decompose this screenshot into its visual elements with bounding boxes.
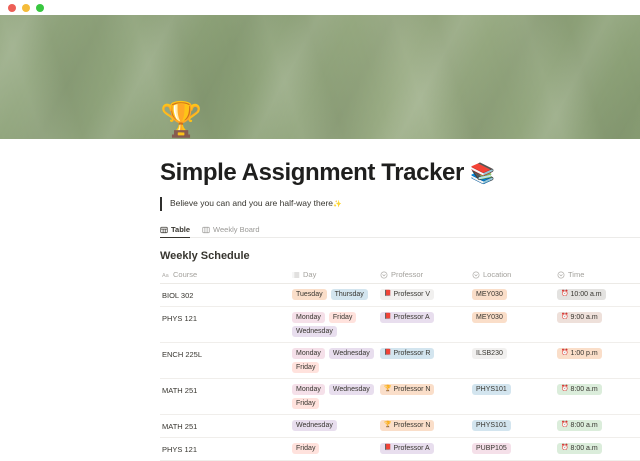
location-tag[interactable]: ILSB230 <box>472 348 507 359</box>
window-minimize-button[interactable] <box>22 4 30 12</box>
location-tag-label: PUBP105 <box>476 444 507 453</box>
day-tag[interactable]: Wednesday <box>329 348 374 359</box>
tab-weekly-board[interactable]: Weekly Board <box>202 225 260 237</box>
cell-day[interactable]: TuesdayThursday <box>290 284 378 307</box>
day-tag-list: MondayFridayWednesday <box>292 312 374 337</box>
cell-day[interactable]: MondayFridayWednesday <box>290 307 378 343</box>
column-header-time[interactable]: Time <box>555 268 640 284</box>
time-tag-label: 8:00 a.m <box>570 421 597 430</box>
multi-select-icon <box>292 271 300 279</box>
professor-tag-label: Professor A <box>393 313 429 322</box>
cell-professor[interactable]: 🏆Professor N <box>378 415 470 438</box>
cell-time[interactable]: ⏰8:00 a.m <box>555 438 640 461</box>
alarm-clock-icon: ⏰ <box>561 349 568 358</box>
professor-tag[interactable]: 📕Professor A <box>380 443 434 454</box>
page-icon-emoji[interactable]: 🏆 <box>160 103 202 137</box>
select-icon <box>557 271 565 279</box>
day-tag[interactable]: Wednesday <box>329 384 374 395</box>
cell-time[interactable]: ⏰8:00 a.m <box>555 415 640 438</box>
view-tabs: Table Weekly Board <box>160 221 640 238</box>
cell-course[interactable]: MATH 251 <box>160 379 290 415</box>
cell-location[interactable]: PHYS101 <box>470 379 555 415</box>
alarm-clock-icon: ⏰ <box>561 313 568 322</box>
professor-tag-list: 📕Professor R <box>380 348 466 359</box>
cell-time[interactable]: ⏰8:00 a.m <box>555 379 640 415</box>
location-tag-list: PHYS101 <box>472 384 551 395</box>
column-header-course-label: Course <box>173 270 197 279</box>
location-tag-list: PUBP105 <box>472 443 551 454</box>
cell-professor[interactable]: 📕Professor V <box>378 284 470 307</box>
cell-day[interactable]: Friday <box>290 438 378 461</box>
book-icon: 🏆 <box>384 421 391 430</box>
location-tag-label: ILSB230 <box>476 349 503 358</box>
book-icon: 📕 <box>384 444 391 453</box>
location-tag[interactable]: MEY030 <box>472 312 507 323</box>
location-tag[interactable]: PUBP105 <box>472 443 511 454</box>
professor-tag[interactable]: 🏆Professor N <box>380 420 434 431</box>
professor-tag-label: Professor N <box>393 421 430 430</box>
day-tag-list: Wednesday <box>292 420 374 431</box>
course-name: PHYS 121 <box>162 312 286 324</box>
cell-course[interactable]: ENCH 225L <box>160 343 290 379</box>
cell-location[interactable]: MEY030 <box>470 284 555 307</box>
table-row[interactable]: MATH 251MondayWednesdayFriday🏆Professor … <box>160 379 640 415</box>
location-tag[interactable]: MEY030 <box>472 289 507 300</box>
location-tag-list: MEY030 <box>472 312 551 323</box>
professor-tag-list: 📕Professor A <box>380 312 466 323</box>
select-icon <box>472 271 480 279</box>
time-tag[interactable]: ⏰8:00 a.m <box>557 420 602 431</box>
sparkles-icon: ✨ <box>333 201 342 208</box>
cell-professor[interactable]: 🏆Professor N <box>378 379 470 415</box>
title-text-icon: Aa <box>162 271 170 279</box>
column-header-day-label: Day <box>303 270 316 279</box>
day-tag[interactable]: Friday <box>329 312 356 323</box>
course-name: PHYS 121 <box>162 443 286 455</box>
column-header-professor-label: Professor <box>391 270 423 279</box>
day-tag-list: TuesdayThursday <box>292 289 374 300</box>
tab-weekly-board-label: Weekly Board <box>213 225 260 234</box>
cell-professor[interactable]: 📕Professor R <box>378 343 470 379</box>
page-title-text: Simple Assignment Tracker <box>160 159 464 186</box>
professor-tag-list: 📕Professor A <box>380 443 466 454</box>
books-icon: 📚 <box>470 163 495 185</box>
window-maximize-button[interactable] <box>36 4 44 12</box>
cell-time[interactable]: ⏰9:00 a.m <box>555 307 640 343</box>
professor-tag[interactable]: 📕Professor V <box>380 289 434 300</box>
cell-time[interactable]: ⏰1:00 p.m <box>555 343 640 379</box>
course-name: ENCH 225L <box>162 348 286 360</box>
cell-course[interactable]: MATH 251 <box>160 415 290 438</box>
location-tag[interactable]: PHYS101 <box>472 384 511 395</box>
location-tag-label: PHYS101 <box>476 421 507 430</box>
cell-professor[interactable]: 📕Professor A <box>378 438 470 461</box>
professor-tag-list: 📕Professor V <box>380 289 466 300</box>
time-tag-list: ⏰10:00 a.m <box>557 289 640 300</box>
professor-tag[interactable]: 🏆Professor N <box>380 384 434 395</box>
book-icon: 📕 <box>384 349 391 358</box>
time-tag[interactable]: ⏰8:00 a.m <box>557 384 602 395</box>
course-name: BIOL 302 <box>162 289 286 301</box>
table-row[interactable]: ENCH 225LMondayWednesdayFriday📕Professor… <box>160 343 640 379</box>
day-tag-list: MondayWednesdayFriday <box>292 348 374 373</box>
day-tag[interactable]: Wednesday <box>292 420 337 431</box>
cell-course[interactable]: PHYS 121 <box>160 307 290 343</box>
location-tag[interactable]: PHYS101 <box>472 420 511 431</box>
cell-day[interactable]: MondayWednesdayFriday <box>290 379 378 415</box>
location-tag-list: PHYS101 <box>472 420 551 431</box>
table-header: Aa Course <box>160 268 640 284</box>
cell-day[interactable]: MondayWednesdayFriday <box>290 343 378 379</box>
svg-text:Aa: Aa <box>162 273 170 279</box>
time-tag-list: ⏰8:00 a.m <box>557 443 640 454</box>
window-close-button[interactable] <box>8 4 16 12</box>
time-tag-list: ⏰8:00 a.m <box>557 384 640 395</box>
course-name: MATH 251 <box>162 384 286 396</box>
location-tag-list: MEY030 <box>472 289 551 300</box>
page-cover-image <box>0 15 640 139</box>
table-row[interactable]: PHYS 121MondayFridayWednesday📕Professor … <box>160 307 640 343</box>
cell-course[interactable]: BIOL 302 <box>160 284 290 307</box>
location-tag-list: ILSB230 <box>472 348 551 359</box>
board-icon <box>202 226 210 234</box>
professor-tag-label: Professor A <box>393 444 429 453</box>
time-tag-label: 8:00 a.m <box>570 385 597 394</box>
time-tag-label: 10:00 a.m <box>570 290 601 299</box>
column-header-location-label: Location <box>483 270 511 279</box>
professor-tag-list: 🏆Professor N <box>380 384 466 395</box>
professor-tag-label: Professor R <box>393 349 430 358</box>
location-tag-label: MEY030 <box>476 313 503 322</box>
table-body: BIOL 302TuesdayThursday📕Professor VMEY03… <box>160 284 640 461</box>
section-title: Weekly Schedule <box>160 250 640 262</box>
professor-tag-label: Professor N <box>393 385 430 394</box>
alarm-clock-icon: ⏰ <box>561 444 568 453</box>
table-row[interactable]: MATH 251Wednesday🏆Professor NPHYS101⏰8:0… <box>160 415 640 438</box>
table-row[interactable]: PHYS 121Friday📕Professor APUBP105⏰8:00 a… <box>160 438 640 461</box>
tab-table[interactable]: Table <box>160 225 190 237</box>
cell-location[interactable]: MEY030 <box>470 307 555 343</box>
cell-time[interactable]: ⏰10:00 a.m <box>555 284 640 307</box>
table-row[interactable]: BIOL 302TuesdayThursday📕Professor VMEY03… <box>160 284 640 307</box>
cell-location[interactable]: PHYS101 <box>470 415 555 438</box>
cell-course[interactable]: PHYS 121 <box>160 438 290 461</box>
time-tag-label: 9:00 a.m <box>570 313 597 322</box>
day-tag[interactable]: Friday <box>292 443 319 454</box>
day-tag-list: MondayWednesdayFriday <box>292 384 374 409</box>
book-icon: 🏆 <box>384 385 391 394</box>
book-icon: 📕 <box>384 313 391 322</box>
column-header-time-label: Time <box>568 270 584 279</box>
day-tag[interactable]: Friday <box>292 362 319 373</box>
book-icon: 📕 <box>384 290 391 299</box>
column-header-location[interactable]: Location <box>470 268 555 284</box>
column-header-course[interactable]: Aa Course <box>160 268 290 284</box>
cell-professor[interactable]: 📕Professor A <box>378 307 470 343</box>
alarm-clock-icon: ⏰ <box>561 385 568 394</box>
cell-location[interactable]: ILSB230 <box>470 343 555 379</box>
time-tag-list: ⏰1:00 p.m <box>557 348 640 359</box>
professor-tag-label: Professor V <box>393 290 430 299</box>
time-tag[interactable]: ⏰8:00 a.m <box>557 443 602 454</box>
page-body: 🏆 Simple Assignment Tracker 📚 Believe yo… <box>0 139 640 461</box>
table-icon <box>160 226 168 234</box>
column-header-day[interactable]: Day <box>290 268 378 284</box>
day-tag[interactable]: Monday <box>292 384 325 395</box>
time-tag[interactable]: ⏰1:00 p.m <box>557 348 602 359</box>
schedule-table: Aa Course <box>160 268 640 461</box>
time-tag-list: ⏰9:00 a.m <box>557 312 640 323</box>
page-quote-text: Believe you can and you are half-way the… <box>170 198 333 208</box>
select-icon <box>380 271 388 279</box>
professor-tag[interactable]: 📕Professor R <box>380 348 434 359</box>
day-tag-list: Friday <box>292 443 374 454</box>
professor-tag[interactable]: 📕Professor A <box>380 312 434 323</box>
alarm-clock-icon: ⏰ <box>561 421 568 430</box>
professor-tag-list: 🏆Professor N <box>380 420 466 431</box>
day-tag[interactable]: Monday <box>292 348 325 359</box>
day-tag[interactable]: Tuesday <box>292 289 327 300</box>
cell-location[interactable]: PUBP105 <box>470 438 555 461</box>
time-tag[interactable]: ⏰10:00 a.m <box>557 289 606 300</box>
time-tag-label: 8:00 a.m <box>570 444 597 453</box>
cell-day[interactable]: Wednesday <box>290 415 378 438</box>
time-tag-label: 1:00 p.m <box>570 349 597 358</box>
page-quote: Believe you can and you are half-way the… <box>160 197 640 211</box>
day-tag[interactable]: Thursday <box>331 289 368 300</box>
tab-table-label: Table <box>171 225 190 234</box>
location-tag-label: PHYS101 <box>476 385 507 394</box>
column-header-professor[interactable]: Professor <box>378 268 470 284</box>
time-tag-list: ⏰8:00 a.m <box>557 420 640 431</box>
time-tag[interactable]: ⏰9:00 a.m <box>557 312 602 323</box>
course-name: MATH 251 <box>162 420 286 432</box>
day-tag[interactable]: Monday <box>292 312 325 323</box>
location-tag-label: MEY030 <box>476 290 503 299</box>
alarm-clock-icon: ⏰ <box>561 290 568 299</box>
day-tag[interactable]: Wednesday <box>292 326 337 337</box>
page-title: Simple Assignment Tracker 📚 <box>160 139 640 187</box>
window-titlebar <box>0 0 640 15</box>
